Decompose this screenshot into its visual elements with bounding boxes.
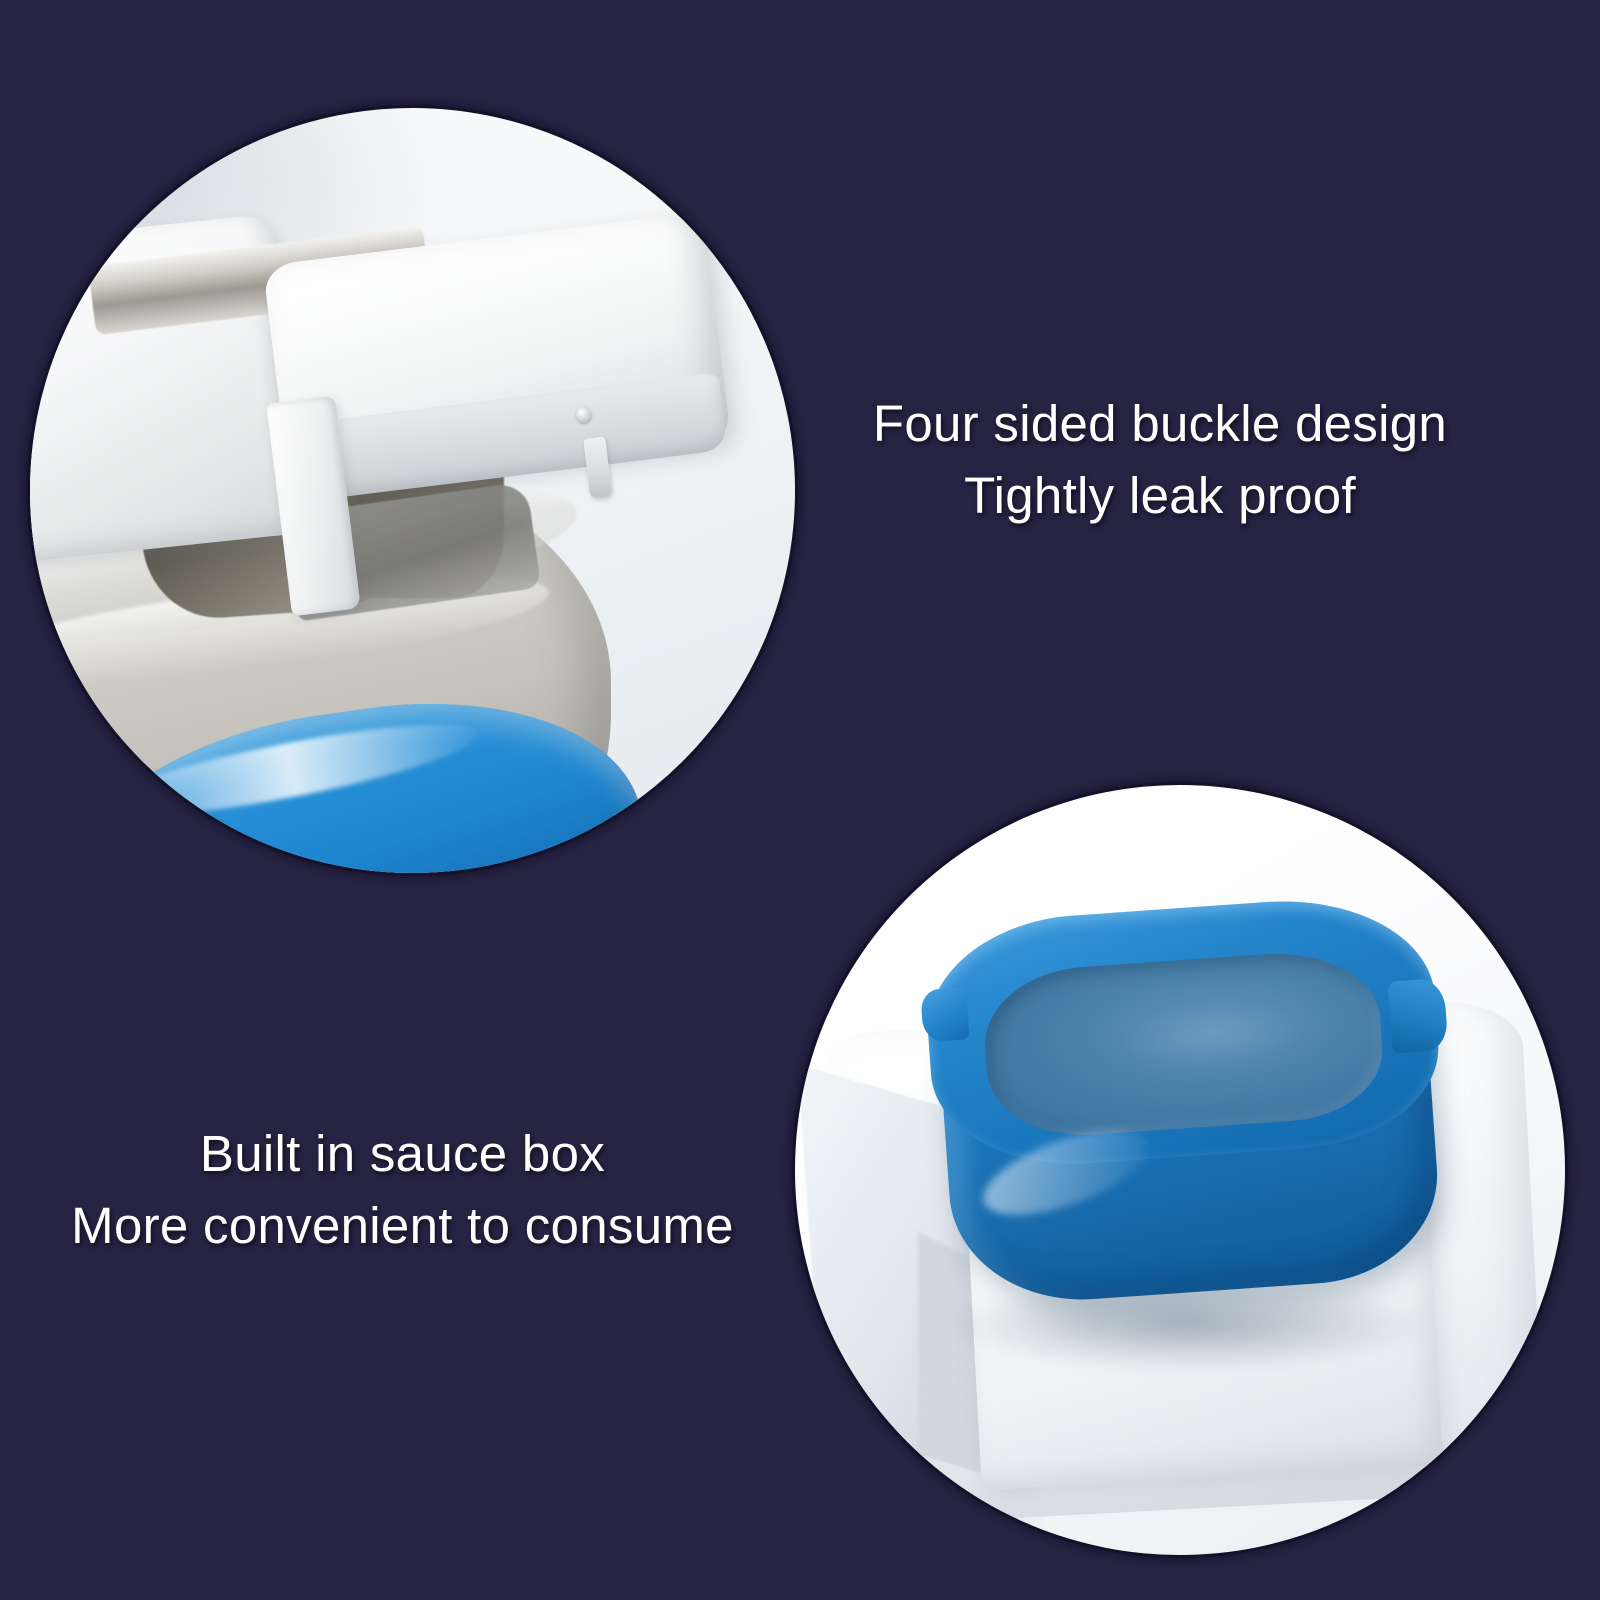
sauce-box-scene — [795, 785, 1565, 1555]
feature-photo-sauce-box — [795, 785, 1565, 1555]
buckle-scene — [30, 108, 795, 873]
caption-buckle-line-1: Four sided buckle design — [810, 388, 1510, 460]
feature-photo-buckle — [30, 108, 795, 873]
caption-buckle-line-2: Tightly leak proof — [810, 460, 1510, 532]
sauce-box-container — [920, 891, 1455, 1326]
caption-sauce-box-line-2: More convenient to consume — [45, 1190, 760, 1262]
caption-sauce-box-line-1: Built in sauce box — [45, 1118, 760, 1190]
sauce-box-tab-right — [1388, 978, 1449, 1054]
infographic-canvas: Four sided buckle design Tightly leak pr… — [0, 0, 1600, 1600]
caption-buckle: Four sided buckle design Tightly leak pr… — [810, 388, 1510, 533]
caption-sauce-box: Built in sauce box More convenient to co… — [45, 1118, 760, 1263]
